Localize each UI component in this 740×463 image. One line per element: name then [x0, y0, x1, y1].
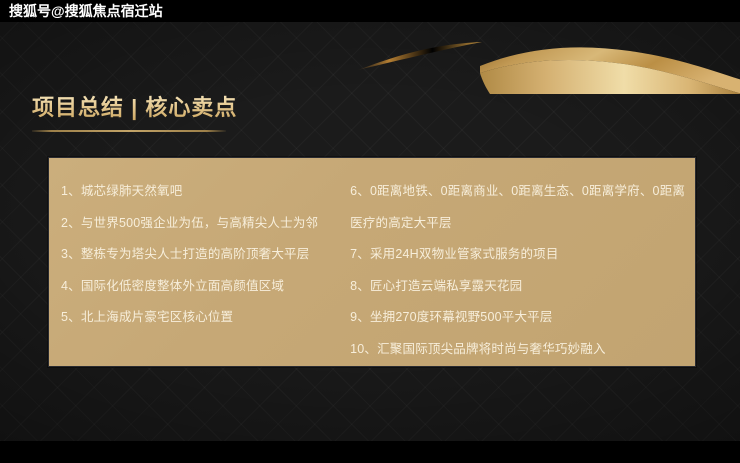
watermark-bar: 搜狐号@搜狐焦点宿迁站: [0, 0, 740, 22]
list-item: 9、坐拥270度环幕视野500平大平层: [350, 302, 695, 334]
list-item-text: 与世界500强企业为伍，与高精尖人士为邻: [81, 216, 318, 230]
bottom-black-bar: [0, 441, 740, 463]
list-item: 5、北上海成片豪宅区核心位置: [61, 302, 348, 334]
list-item-text: 匠心打造云端私享露天花园: [370, 279, 522, 293]
list-item-number: 7、: [350, 247, 370, 261]
list-item: 1、城芯绿肺天然氧吧: [61, 176, 348, 208]
list-item: 3、整栋专为塔尖人士打造的高阶顶奢大平层: [61, 239, 348, 271]
list-item: 2、与世界500强企业为伍，与高精尖人士为邻: [61, 208, 348, 240]
page-title: 项目总结 | 核心卖点: [32, 93, 237, 123]
list-item-text: 0距离地铁、0距离商业、0距离生态、0距离学府、0距离医疗的高定大平层: [350, 184, 685, 230]
list-item: 6、0距离地铁、0距离商业、0距离生态、0距离学府、0距离医疗的高定大平层: [350, 176, 695, 239]
list-item-text: 城芯绿肺天然氧吧: [81, 184, 183, 198]
list-item-text: 国际化低密度整体外立面高颜值区域: [81, 279, 284, 293]
list-item-text: 整栋专为塔尖人士打造的高阶顶奢大平层: [81, 247, 310, 261]
slide-canvas: 项目总结 | 核心卖点 1、城芯绿肺天然氧吧 2、与世界500强企业为伍，与高精…: [0, 0, 740, 463]
list-item-number: 8、: [350, 279, 370, 293]
selling-points-columns: 1、城芯绿肺天然氧吧 2、与世界500强企业为伍，与高精尖人士为邻 3、整栋专为…: [49, 158, 695, 366]
gold-ribbon-swoosh-icon: [330, 18, 740, 94]
list-item-number: 10、: [350, 342, 377, 356]
list-item-text: 坐拥270度环幕视野500平大平层: [370, 310, 553, 324]
list-item-number: 4、: [61, 279, 81, 293]
page-title-underline: [32, 130, 226, 132]
list-item: 10、汇聚国际顶尖品牌将时尚与奢华巧妙融入: [350, 334, 695, 366]
list-item: 7、采用24H双物业管家式服务的项目: [350, 239, 695, 271]
list-item-text: 北上海成片豪宅区核心位置: [81, 310, 233, 324]
list-item-text: 采用24H双物业管家式服务的项目: [370, 247, 559, 261]
list-item-number: 1、: [61, 184, 81, 198]
watermark-text: 搜狐号@搜狐焦点宿迁站: [9, 2, 163, 20]
list-item-text: 汇聚国际顶尖品牌将时尚与奢华巧妙融入: [377, 342, 606, 356]
list-item-number: 3、: [61, 247, 81, 261]
selling-points-right-column: 6、0距离地铁、0距离商业、0距离生态、0距离学府、0距离医疗的高定大平层 7、…: [348, 158, 695, 366]
page-title-text: 项目总结 | 核心卖点: [32, 93, 237, 123]
selling-points-panel: 1、城芯绿肺天然氧吧 2、与世界500强企业为伍，与高精尖人士为邻 3、整栋专为…: [48, 157, 696, 367]
list-item-number: 9、: [350, 310, 370, 324]
list-item-number: 2、: [61, 216, 81, 230]
list-item-number: 6、: [350, 184, 370, 198]
list-item: 8、匠心打造云端私享露天花园: [350, 271, 695, 303]
selling-points-left-column: 1、城芯绿肺天然氧吧 2、与世界500强企业为伍，与高精尖人士为邻 3、整栋专为…: [49, 158, 348, 366]
list-item: 4、国际化低密度整体外立面高颜值区域: [61, 271, 348, 303]
list-item-number: 5、: [61, 310, 81, 324]
